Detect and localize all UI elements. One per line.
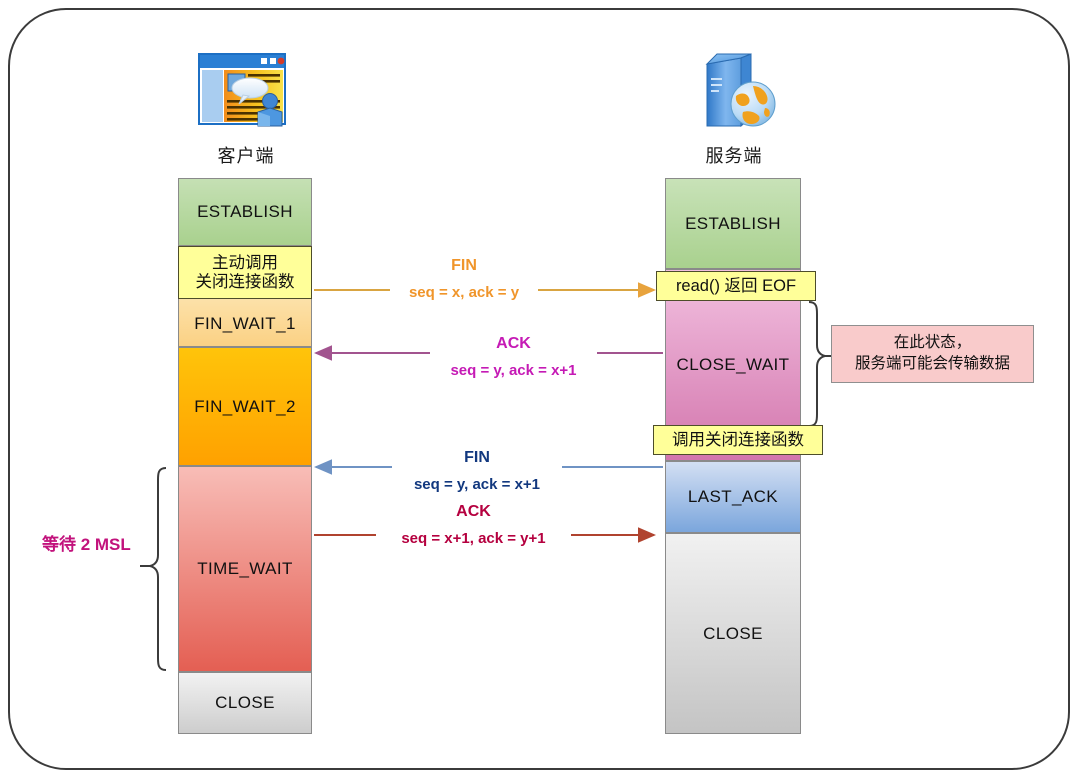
client-state-fin-wait-2-label: FIN_WAIT_2 [194, 397, 296, 417]
client-state-time-wait: TIME_WAIT [178, 466, 312, 672]
ack-client-to-server-detail: seq = x+1, ack = y+1 [376, 530, 571, 549]
active-close-callout-line2: 关闭连接函数 [196, 273, 295, 292]
ack-server-to-client-label: ACK seq = y, ack = x+1 [430, 334, 597, 373]
client-state-establish-label: ESTABLISH [197, 202, 293, 222]
ack-server-to-client-title: ACK [430, 334, 597, 354]
server-data-note: 在此状态， 服务端可能会传输数据 [831, 325, 1034, 383]
ack-server-to-client-detail: seq = y, ack = x+1 [430, 362, 597, 381]
read-eof-callout-line1: read() 返回 EOF [676, 277, 796, 296]
server-data-note-line2: 服务端可能会传输数据 [855, 354, 1010, 375]
client-endpoint: 客户端 [190, 48, 302, 168]
server-state-close-wait-label: CLOSE_WAIT [677, 355, 790, 375]
fin-client-to-server-label: FIN seq = x, ack = y [390, 256, 538, 295]
ack-client-to-server-title: ACK [376, 502, 571, 522]
server-globe-icon [679, 48, 789, 138]
server-state-establish: ESTABLISH [665, 178, 801, 269]
server-state-close: CLOSE [665, 533, 801, 734]
diagram-canvas: 客户端 [0, 0, 1080, 780]
diagram-frame [8, 8, 1070, 770]
fin-client-to-server-detail: seq = x, ack = y [390, 284, 538, 303]
server-endpoint: 服务端 [678, 48, 790, 168]
close-call-callout: 调用关闭连接函数 [653, 425, 823, 455]
server-state-last-ack-label: LAST_ACK [688, 487, 778, 507]
fin-server-to-client-title: FIN [392, 448, 562, 468]
ack-client-to-server-label: ACK seq = x+1, ack = y+1 [376, 502, 571, 541]
fin-client-to-server-title: FIN [390, 256, 538, 276]
fin-server-to-client-label: FIN seq = y, ack = x+1 [392, 448, 562, 487]
client-state-fin-wait-2: FIN_WAIT_2 [178, 347, 312, 466]
close-call-callout-line1: 调用关闭连接函数 [672, 431, 804, 450]
read-eof-callout: read() 返回 EOF [656, 271, 816, 301]
active-close-callout: 主动调用 关闭连接函数 [178, 246, 312, 299]
active-close-callout-line1: 主动调用 [212, 254, 278, 273]
client-state-close-label: CLOSE [215, 693, 275, 713]
client-state-time-wait-label: TIME_WAIT [197, 559, 293, 579]
fin-server-to-client-detail: seq = y, ack = x+1 [392, 476, 562, 495]
server-state-last-ack: LAST_ACK [665, 461, 801, 533]
server-label: 服务端 [678, 142, 790, 168]
wait-2msl-label: 等待 2 MSL [42, 530, 131, 555]
client-state-close: CLOSE [178, 672, 312, 734]
server-data-note-line1: 在此状态， [894, 333, 972, 354]
client-state-establish: ESTABLISH [178, 178, 312, 246]
client-label: 客户端 [190, 142, 302, 168]
client-state-fin-wait-1-label: FIN_WAIT_1 [194, 314, 296, 334]
server-state-close-label: CLOSE [703, 624, 763, 644]
browser-user-icon [191, 48, 301, 138]
server-state-establish-label: ESTABLISH [685, 214, 781, 234]
